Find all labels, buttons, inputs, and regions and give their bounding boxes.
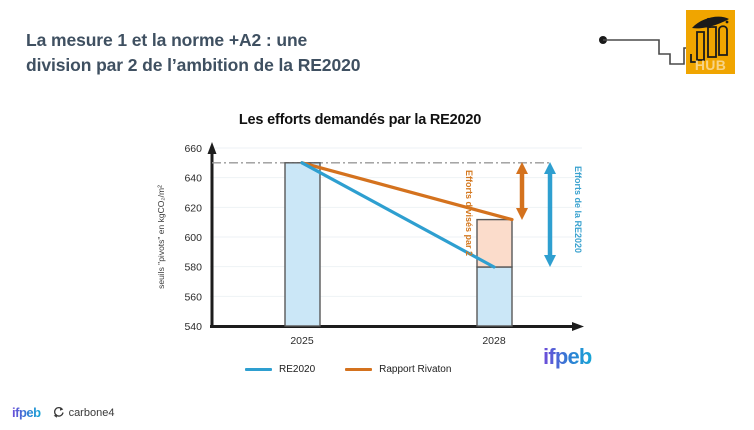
x-tick-2028: 2028 [482, 335, 506, 347]
footer-carbone4-label: carbone4 [69, 407, 115, 419]
slide-title-line-1: La mesure 1 et la norme +A2 : une [26, 28, 456, 53]
chart-legend: RE2020 Rapport Rivaton [245, 364, 451, 375]
y-tick-620: 620 [184, 202, 202, 214]
slide-title-line-2: division par 2 de l’ambition de la RE202… [26, 53, 456, 78]
y-tick-600: 600 [184, 232, 202, 244]
ifpeb-chart-watermark: ifpeb [543, 344, 592, 370]
chart-title: Les efforts demandés par la RE2020 [150, 112, 570, 128]
legend-item-re2020[interactable]: RE2020 [245, 364, 315, 375]
slide-title: La mesure 1 et la norme +A2 : une divisi… [26, 28, 456, 79]
legend-swatch-rapport-rivaton [345, 368, 372, 372]
bar-2028-re2020 [477, 267, 512, 326]
carbone4-swirl-icon [52, 406, 65, 419]
footer-carbone4-logo: carbone4 [52, 406, 115, 419]
hub-badge: HUB [686, 10, 735, 74]
y-tick-580: 580 [184, 262, 202, 274]
y-tick-640: 640 [184, 173, 202, 185]
legend-item-rapport-rivaton[interactable]: Rapport Rivaton [345, 364, 451, 375]
y-axis-tick-labels: 660 640 620 600 580 560 540 [184, 143, 202, 333]
footer-logo-bar: ifpeb carbone4 [12, 405, 114, 420]
x-tick-2025: 2025 [290, 335, 314, 347]
legend-label-rapport-rivaton: Rapport Rivaton [379, 364, 451, 375]
chart-container: Les efforts demandés par la RE2020 660 6… [150, 112, 620, 387]
footer-ifpeb-logo: ifpeb [12, 405, 41, 420]
chart-svg: 660 640 620 600 580 560 540 seuils "pivo… [150, 140, 590, 360]
bar-2025-re2020 [285, 163, 320, 326]
y-axis-title: seuils "pivots" en kgCO₂/m² [156, 185, 166, 289]
hub-logo: HUB [596, 4, 746, 84]
legend-label-re2020: RE2020 [279, 364, 315, 375]
annotation-label-efforts-divises-par-2: Efforts divisés par 2 [464, 170, 474, 256]
hub-badge-text: HUB [686, 57, 735, 73]
annotation-label-efforts-de-la-re2020: Efforts de la RE2020 [573, 166, 583, 253]
y-tick-540: 540 [184, 321, 202, 333]
y-tick-560: 560 [184, 291, 202, 303]
legend-swatch-re2020 [245, 368, 272, 372]
y-tick-660: 660 [184, 143, 202, 155]
chart-plot: 660 640 620 600 580 560 540 seuils "pivo… [150, 140, 590, 365]
